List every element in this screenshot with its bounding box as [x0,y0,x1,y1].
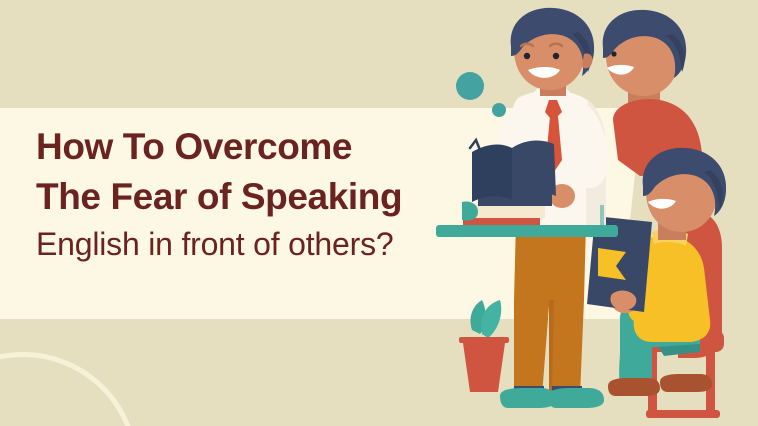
seated-reader-figure [587,148,726,418]
blog-banner: How To Overcome The Fear of Speaking Eng… [0,0,758,426]
open-book [470,140,556,202]
potted-plant [459,300,509,392]
illustration [0,0,758,426]
